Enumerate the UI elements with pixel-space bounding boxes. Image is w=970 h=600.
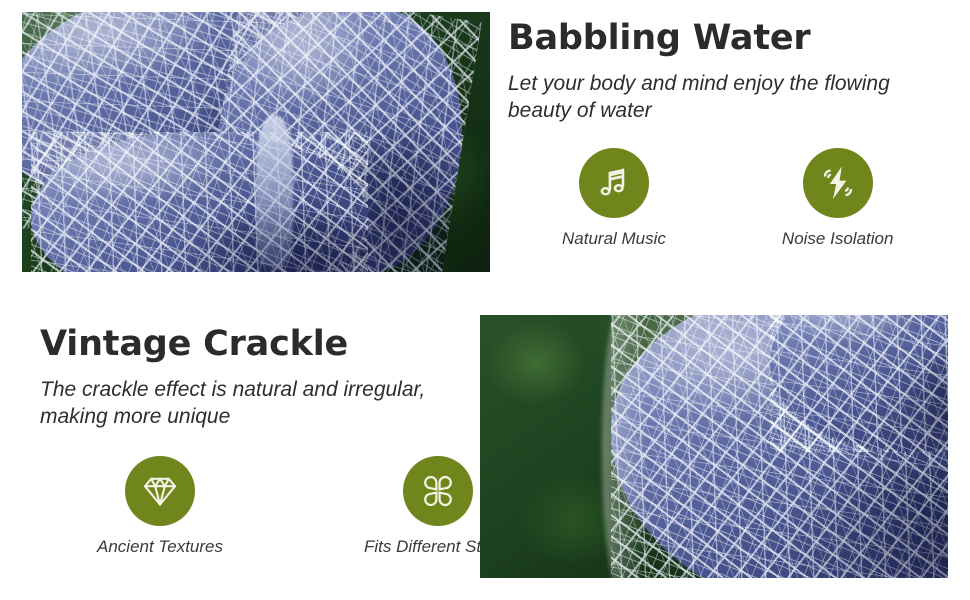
lightning-sound-wave-icon[interactable]: [803, 148, 873, 218]
babbling-water-photo: [22, 12, 490, 272]
diamond-icon[interactable]: [125, 456, 195, 526]
babbling-water-heading: Babbling Water: [508, 20, 938, 58]
feature-ancient-textures[interactable]: Ancient Textures: [97, 456, 223, 557]
water-stream: [256, 116, 293, 267]
vintage-crackle-heading: Vintage Crackle: [40, 326, 470, 364]
vintage-crackle-panel: Vintage Crackle The crackle effect is na…: [40, 326, 470, 557]
feature-natural-music-label: Natural Music: [562, 229, 666, 249]
vintage-crackle-subheading: The crackle effect is natural and irregu…: [40, 376, 470, 431]
crackle-surface-top: [770, 315, 948, 452]
four-petal-clover-icon[interactable]: [403, 456, 473, 526]
babbling-water-feature-list: Natural Music Noise Isolation: [508, 148, 938, 249]
edge-highlight: [602, 315, 649, 578]
vintage-crackle-feature-list: Ancient Textures Fits Different Styles: [40, 456, 470, 557]
music-note-icon[interactable]: [579, 148, 649, 218]
ceramic-form-lower: [31, 132, 368, 272]
vintage-crackle-photo: [480, 315, 948, 578]
feature-noise-isolation-label: Noise Isolation: [782, 229, 894, 249]
babbling-water-panel: Babbling Water Let your body and mind en…: [508, 20, 938, 249]
feature-natural-music[interactable]: Natural Music: [562, 148, 666, 249]
product-feature-page: Babbling Water Let your body and mind en…: [0, 0, 970, 600]
feature-noise-isolation[interactable]: Noise Isolation: [782, 148, 894, 249]
babbling-water-subheading: Let your body and mind enjoy the flowing…: [508, 70, 938, 125]
feature-ancient-textures-label: Ancient Textures: [97, 537, 223, 557]
